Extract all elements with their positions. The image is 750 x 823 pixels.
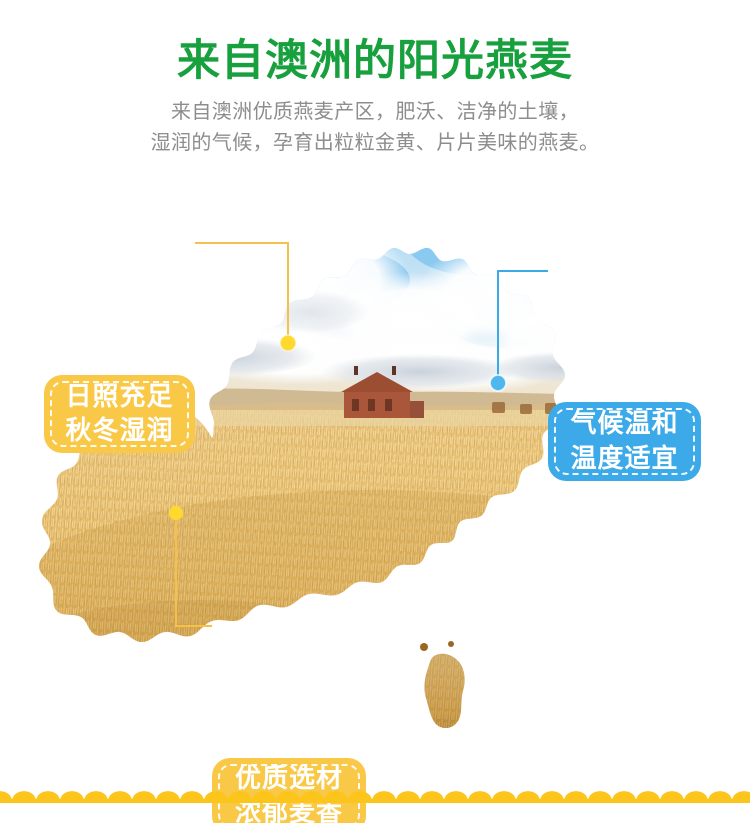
subtitle-line-2: 湿润的气候，孕育出粒粒金黄、片片美味的燕麦。 <box>0 127 750 158</box>
callout-climate-line-1: 气候温和 <box>570 407 678 441</box>
callout-climate[interactable]: 气候温和 温度适宜 <box>548 402 701 481</box>
promo-page: 来自澳洲的阳光燕麦 来自澳洲优质燕麦产区，肥沃、洁净的土壤， 湿润的气候，孕育出… <box>0 0 750 823</box>
callout-sun-line-1: 日照充足 <box>65 380 173 414</box>
header: 来自澳洲的阳光燕麦 来自澳洲优质燕麦产区，肥沃、洁净的土壤， 湿润的气候，孕育出… <box>0 0 750 158</box>
callout-sun-line-2: 秋冬湿润 <box>65 414 173 448</box>
callout-sun[interactable]: 日照充足 秋冬湿润 <box>44 375 195 453</box>
callout-climate-line-2: 温度适宜 <box>570 442 678 476</box>
map-stage: 日照充足 秋冬湿润 气候温和 温度适宜 优质选材 浓郁麦香 <box>0 170 750 770</box>
page-subtitle: 来自澳洲优质燕麦产区，肥沃、洁净的土壤， 湿润的气候，孕育出粒粒金黄、片片美味的… <box>0 85 750 158</box>
scallop-border <box>0 790 750 803</box>
subtitle-line-1: 来自澳洲优质燕麦产区，肥沃、洁净的土壤， <box>0 96 750 127</box>
page-title: 来自澳洲的阳光燕麦 <box>0 0 750 85</box>
